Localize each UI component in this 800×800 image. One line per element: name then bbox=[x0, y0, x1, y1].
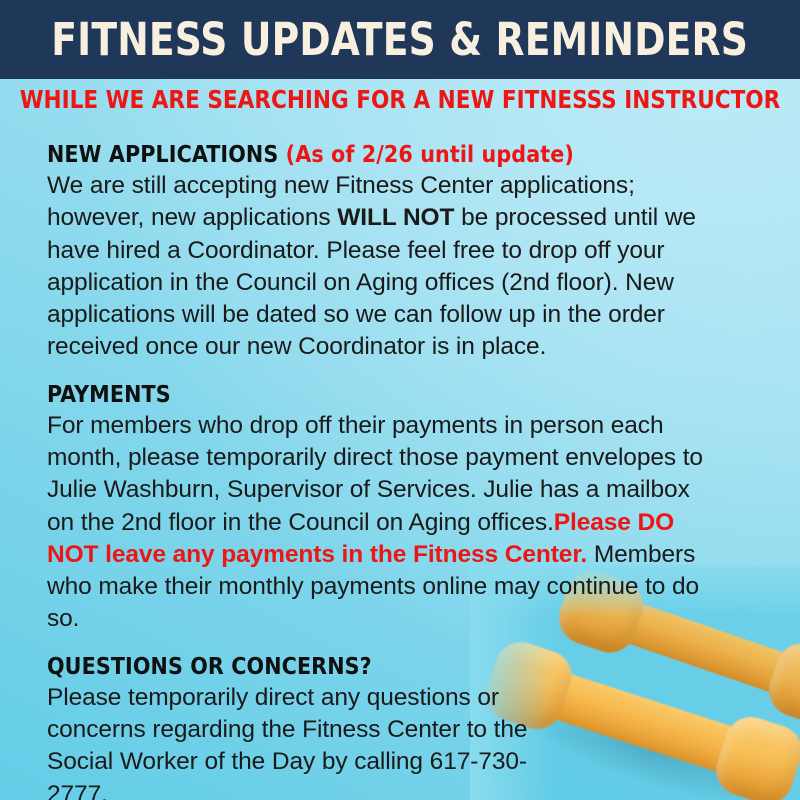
section-text-payments: For members who drop off their payments … bbox=[47, 410, 707, 635]
section-text-new-applications: We are still accepting new Fitness Cente… bbox=[47, 170, 707, 363]
section-heading-note: (As of 2/26 until update) bbox=[286, 142, 574, 168]
header-bar: FITNESS UPDATES & REMINDERS bbox=[0, 0, 800, 79]
paragraph-part-1: Please temporarily direct any questions … bbox=[47, 684, 527, 800]
section-payments: PAYMENTS For members who drop off their … bbox=[47, 380, 707, 635]
subheading: WHILE WE ARE SEARCHING FOR A NEW FITNESS… bbox=[16, 86, 784, 114]
section-heading-questions: QUESTIONS OR CONCERNS? bbox=[47, 652, 707, 682]
section-text-questions: Please temporarily direct any questions … bbox=[47, 682, 567, 800]
section-heading-text: PAYMENTS bbox=[47, 382, 171, 408]
section-new-applications: NEW APPLICATIONS (As of 2/26 until updat… bbox=[47, 140, 707, 363]
paragraph-emphasis: WILL NOT bbox=[337, 204, 454, 231]
content-body: NEW APPLICATIONS (As of 2/26 until updat… bbox=[47, 140, 707, 800]
section-heading-payments: PAYMENTS bbox=[47, 380, 707, 410]
section-heading-text: QUESTIONS OR CONCERNS? bbox=[47, 654, 372, 680]
poster: FITNESS UPDATES & REMINDERS WHILE WE ARE… bbox=[0, 0, 800, 800]
section-questions: QUESTIONS OR CONCERNS? Please temporaril… bbox=[47, 652, 707, 800]
page-title: FITNESS UPDATES & REMINDERS bbox=[52, 17, 749, 62]
section-heading-text: NEW APPLICATIONS bbox=[47, 142, 278, 168]
section-heading-new-applications: NEW APPLICATIONS (As of 2/26 until updat… bbox=[47, 140, 707, 170]
